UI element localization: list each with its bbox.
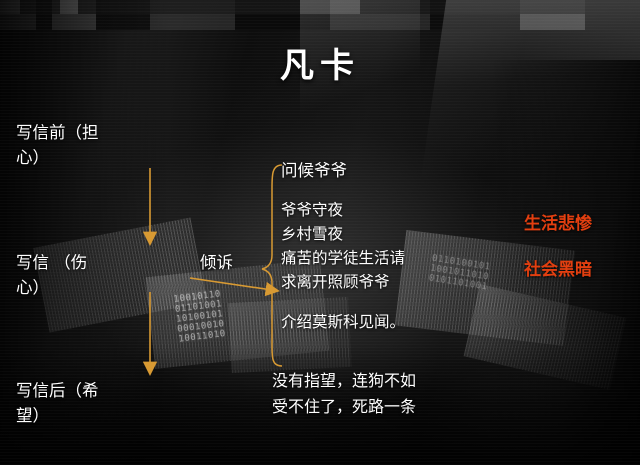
stage-before-writing-label: 写信前（担 心） [16,120,166,170]
branch-life-detail-label: 爷爷守夜 乡村雪夜 痛苦的学徒生活请 求离开照顾爷爷 [281,198,405,294]
stage-writing-label: 写信 （伤 心） [16,250,176,300]
slide-content: 凡卡 写信前（担 心） 写信 （伤 心） 写信后（希 望） 倾诉 问候爷爷 爷爷… [0,0,640,465]
theme-miserable-life-label: 生活悲惨 [524,212,592,237]
page-title: 凡卡 [0,38,640,87]
theme-dark-society-label: 社会黑暗 [524,258,592,283]
branch-moscow-label: 介绍莫斯科见闻。 [281,310,405,335]
branch-greeting-label: 问候爷爷 [281,158,347,183]
stage-after-writing-label: 写信后（希 望） [16,378,166,428]
pour-out-label: 倾诉 [200,250,280,275]
branch-conclusion-label: 没有指望，连狗不如 受不住了，死路一条 [272,368,416,420]
slide-canvas: 10010110 01101001 10100101 00010010 1001… [0,0,640,465]
